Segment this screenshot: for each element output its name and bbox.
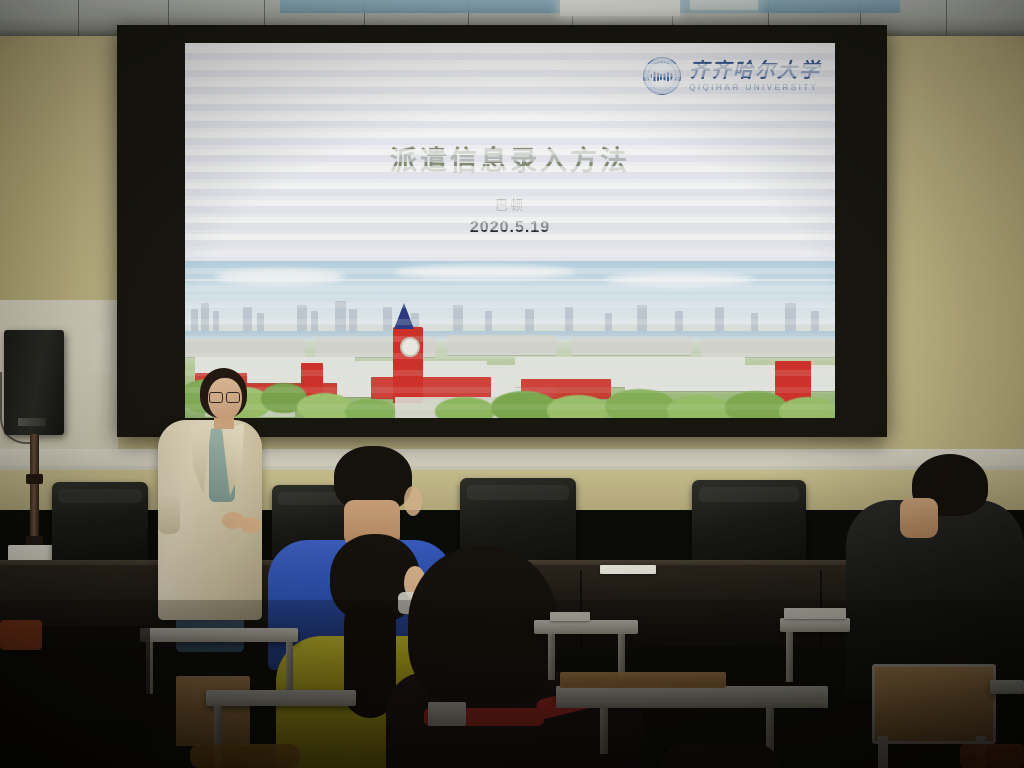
paper-sheet — [550, 612, 590, 621]
pa-speaker — [4, 330, 64, 435]
wall-patch — [92, 330, 110, 374]
foreground-head — [660, 744, 780, 768]
student-desk[interactable] — [140, 628, 298, 642]
student-desk[interactable] — [990, 680, 1024, 694]
classroom-photo-scene: 齐齐哈尔大学 QIQIHAR UNIVERSITY 派遣信息录入方法 巴顿 20… — [0, 0, 1024, 768]
campus-aerial-photo — [185, 261, 835, 419]
wooden-chair[interactable] — [872, 664, 996, 744]
presenter-hand — [240, 517, 261, 533]
projection-screen[interactable]: 齐齐哈尔大学 QIQIHAR UNIVERSITY 派遣信息录入方法 巴顿 20… — [185, 43, 835, 418]
slide-date: 2020.5.19 — [185, 219, 835, 237]
desk-wood-panel — [176, 676, 250, 746]
executive-chair[interactable] — [52, 482, 148, 568]
student-desk[interactable] — [780, 618, 850, 632]
speaker-brand-logo — [18, 418, 46, 426]
university-logo: 齐齐哈尔大学 QIQIHAR UNIVERSITY — [643, 57, 821, 95]
audience-neck — [900, 498, 938, 538]
badge-tag — [428, 702, 466, 726]
foreground-object — [0, 620, 42, 650]
university-name-en: QIQIHAR UNIVERSITY — [689, 83, 821, 92]
presenter-sleeve — [158, 492, 180, 534]
wall-chair-rail — [0, 449, 1024, 471]
ceiling-light — [560, 0, 680, 16]
presentation-slide: 齐齐哈尔大学 QIQIHAR UNIVERSITY 派遣信息录入方法 巴顿 20… — [185, 43, 835, 418]
desk-wood-panel — [560, 672, 726, 688]
orange-object — [960, 744, 1024, 768]
student-desk[interactable] — [206, 690, 356, 706]
slide-title: 派遣信息录入方法 — [185, 139, 835, 178]
executive-chair[interactable] — [692, 480, 806, 570]
qiqihar-university-emblem-icon — [643, 57, 681, 95]
student-desk[interactable] — [534, 620, 638, 634]
paper-sheet — [784, 608, 846, 619]
foreground-object — [190, 744, 300, 768]
audience-ear — [404, 486, 422, 516]
slide-author: 巴顿 — [185, 195, 835, 214]
chair-leg — [878, 736, 888, 768]
right-wall — [884, 36, 1024, 466]
speaker-stand-clamp — [26, 474, 43, 484]
paper-sheet — [600, 565, 656, 574]
university-name-cn: 齐齐哈尔大学 — [689, 60, 821, 80]
eyeglasses-icon — [209, 392, 240, 401]
